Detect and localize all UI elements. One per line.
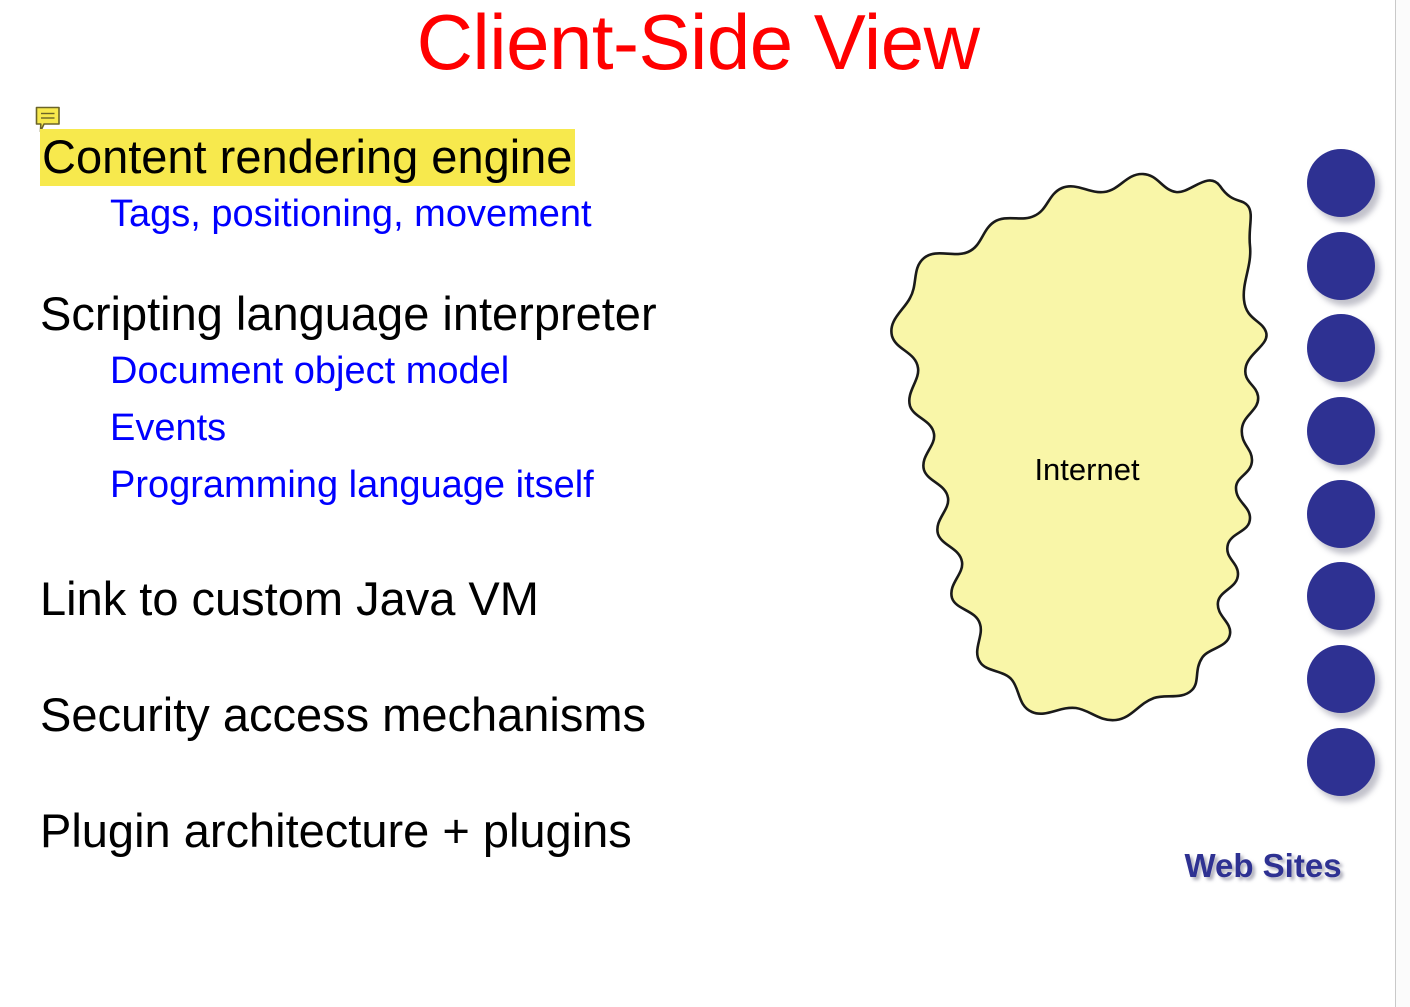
- bullet-document-object-model: Document object model: [110, 343, 870, 400]
- bullet-text: Plugin architecture + plugins: [40, 804, 632, 857]
- bullet-programming-language-itself: Programming language itself: [110, 457, 870, 514]
- bullet-text: Link to custom Java VM: [40, 572, 539, 625]
- web-site-dot[interactable]: [1307, 232, 1375, 300]
- web-sites-group: [1300, 140, 1400, 820]
- bullet-tags-positioning-movement: Tags, positioning, movement: [110, 186, 870, 243]
- bullet-content-rendering-engine: Content rendering engine: [40, 128, 870, 186]
- web-site-dot[interactable]: [1307, 480, 1375, 548]
- bullet-spacer: [40, 744, 870, 802]
- bullet-link-to-custom-java-vm: Link to custom Java VM: [40, 570, 870, 628]
- bullet-events: Events: [110, 400, 870, 457]
- bullet-text: Programming language itself: [110, 464, 594, 506]
- cloud-label: Internet: [870, 452, 1290, 488]
- bullet-text: Events: [110, 407, 226, 449]
- slide-canvas: Client-Side View Content rendering engin…: [0, 0, 1410, 1007]
- bullet-spacer: [40, 243, 870, 285]
- bullet-spacer: [40, 628, 870, 686]
- right-edge-gutter: [1395, 0, 1410, 1007]
- bullet-spacer: [40, 514, 870, 570]
- bullet-plugin-architecture-plus-plugins: Plugin architecture + plugins: [40, 802, 870, 860]
- web-site-dot[interactable]: [1307, 149, 1375, 217]
- bullet-text: Content rendering engine: [40, 129, 575, 186]
- bullet-list: Content rendering engine Tags, positioni…: [40, 128, 870, 860]
- web-site-dot[interactable]: [1307, 314, 1375, 382]
- web-sites-caption: Web Sites: [1132, 845, 1394, 887]
- bullet-security-access-mechanisms: Security access mechanisms: [40, 686, 870, 744]
- page-title: Client-Side View: [0, 0, 1396, 88]
- web-site-dot[interactable]: [1307, 728, 1375, 796]
- web-site-dot[interactable]: [1307, 397, 1375, 465]
- bullet-text: Scripting language interpreter: [40, 287, 657, 340]
- bullet-text: Document object model: [110, 350, 509, 392]
- internet-cloud-shape: Internet: [870, 170, 1290, 820]
- bullet-text: Tags, positioning, movement: [110, 193, 592, 235]
- bullet-text: Security access mechanisms: [40, 688, 646, 741]
- web-site-dot[interactable]: [1307, 562, 1375, 630]
- web-site-dot[interactable]: [1307, 645, 1375, 713]
- bullet-scripting-language-interpreter: Scripting language interpreter: [40, 285, 870, 343]
